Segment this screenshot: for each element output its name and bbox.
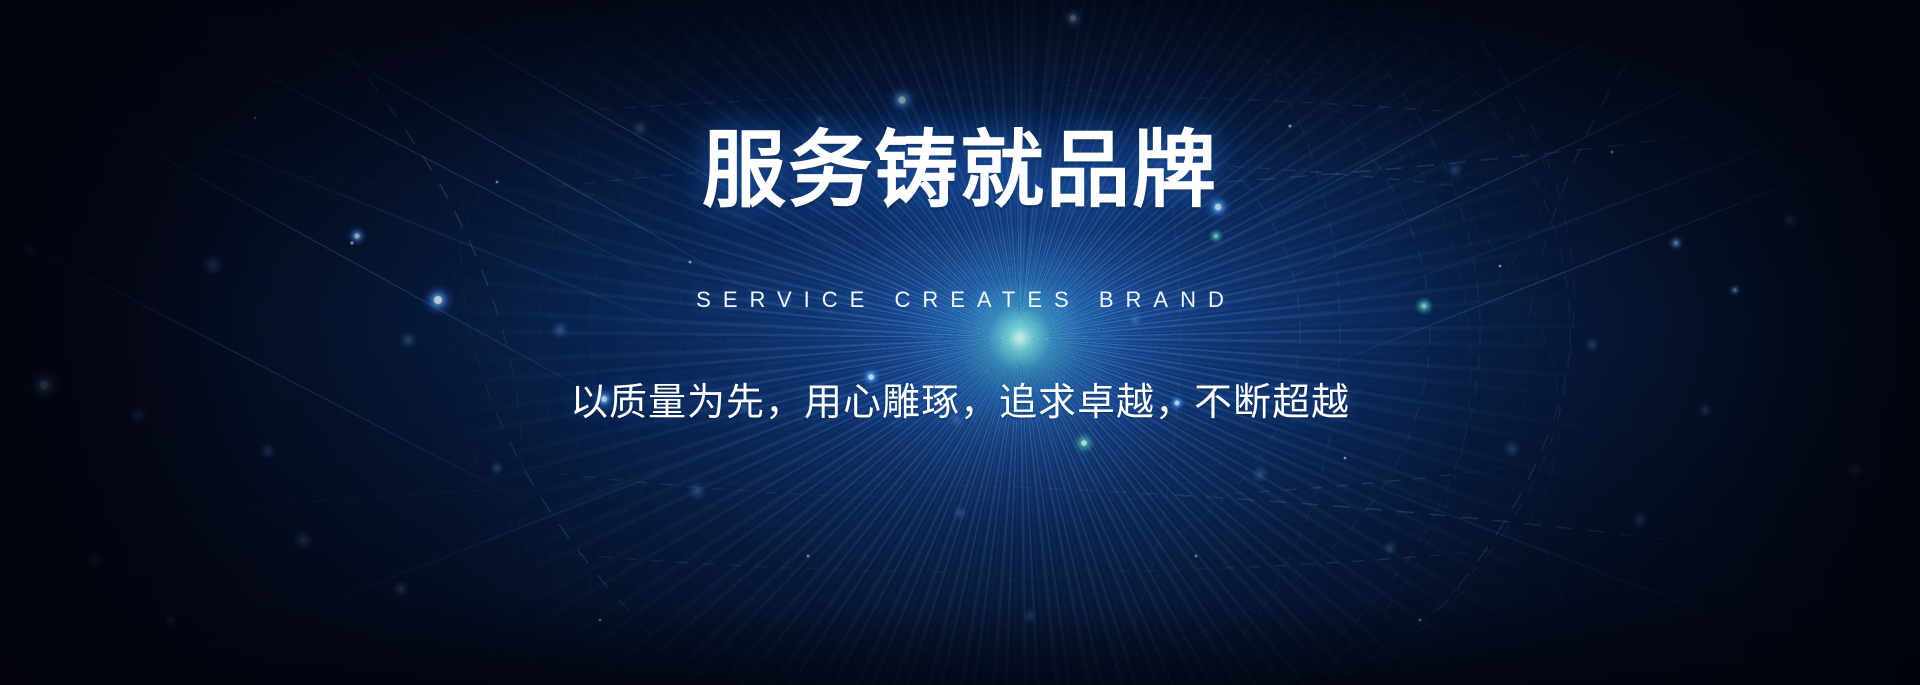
hero-banner: 服务铸就品牌 SERVICE CREATES BRAND 以质量为先，用心雕琢，… xyxy=(0,0,1920,685)
banner-content: 服务铸就品牌 SERVICE CREATES BRAND 以质量为先，用心雕琢，… xyxy=(0,0,1920,685)
banner-headline: 服务铸就品牌 xyxy=(702,126,1218,215)
banner-tagline: 以质量为先，用心雕琢，追求卓越，不断超越 xyxy=(570,371,1350,426)
banner-subtitle-english: SERVICE CREATES BRAND xyxy=(684,287,1236,313)
